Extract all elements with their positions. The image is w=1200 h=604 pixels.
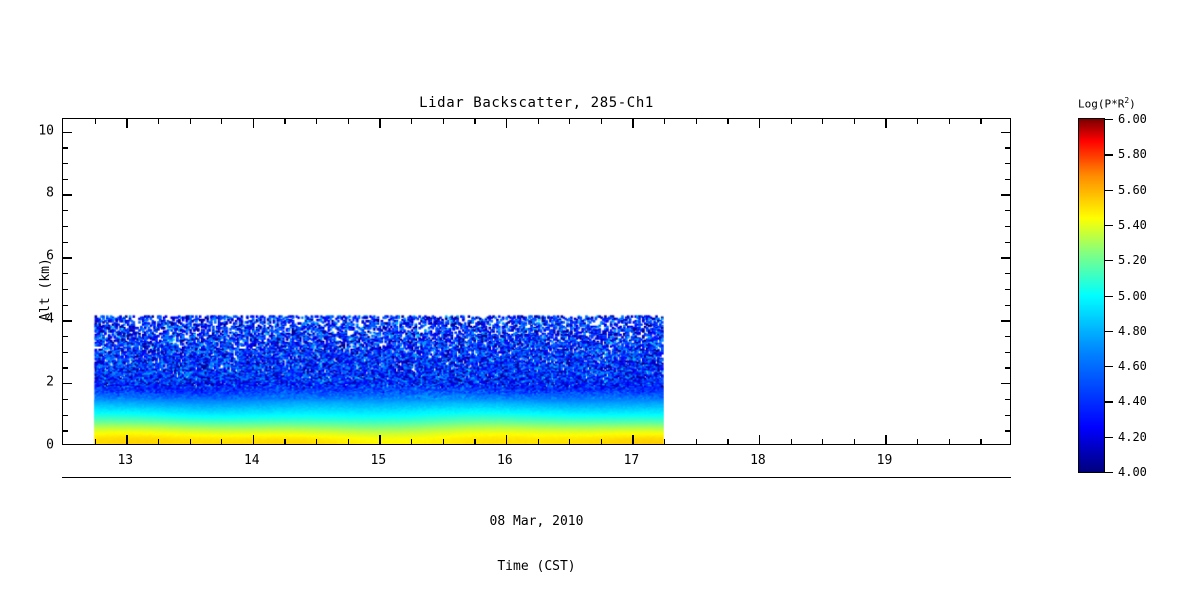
axis-tick [348,119,349,124]
colorbar-tick-label: 4.00 [1118,465,1147,479]
axis-tick [63,273,68,274]
axis-tick [506,435,507,444]
x-tick-label: 15 [371,453,387,468]
axis-tick [63,352,68,353]
colorbar-tick [1105,331,1113,332]
axis-tick [63,305,68,306]
axis-tick [949,119,950,124]
axis-tick [1005,210,1010,211]
axis-tick [474,439,475,444]
colorbar-group: Log(P*R2) 6.005.805.605.405.205.004.804.… [1078,118,1196,478]
axis-tick [1005,163,1010,164]
axis-tick [63,320,72,321]
colorbar-tick [1105,260,1113,261]
axis-tick [1001,257,1010,258]
colorbar-title: Log(P*R2) [1078,96,1136,111]
axis-tick [1005,289,1010,290]
colorbar-tick-label: 5.40 [1118,218,1147,232]
y-tick-label: 2 [20,375,54,390]
axis-tick [63,415,68,416]
axis-tick [1005,352,1010,353]
axis-tick [411,119,412,124]
axis-tick [569,119,570,124]
axis-tick [95,119,96,124]
axis-tick [1005,430,1010,431]
axis-tick [822,119,823,124]
colorbar-tick [1105,401,1113,402]
y-axis-label: Alt (km) [38,258,53,321]
colorbar-tick-label: 5.60 [1118,183,1147,197]
axis-tick [632,435,633,444]
colorbar-tick-label: 5.80 [1118,147,1147,161]
axis-tick [284,119,285,124]
axis-tick [949,439,950,444]
plot-title: Lidar Backscatter, 285-Ch1 [62,95,1011,111]
colorbar-tick-label: 5.20 [1118,253,1147,267]
axis-tick [158,439,159,444]
axis-tick [1005,305,1010,306]
x-tick-label: 18 [750,453,766,468]
y-tick-label: 8 [20,186,54,201]
colorbar-tick [1105,119,1113,120]
axis-tick [474,119,475,124]
axis-tick [980,439,981,444]
axis-tick [1001,383,1010,384]
axis-tick [727,439,728,444]
axis-tick [348,439,349,444]
axis-tick [284,439,285,444]
axis-tick [727,119,728,124]
axis-tick [379,435,380,444]
axis-tick [854,119,855,124]
colorbar-tick-label: 6.00 [1118,112,1147,126]
axis-tick [443,119,444,124]
x-axis-label-block: 08 Mar, 2010 Time (CST) [62,484,1011,604]
x-tick-label: 17 [624,453,640,468]
lidar-backscatter-figure: Lidar Backscatter, 285-Ch1 1314151617181… [0,0,1200,600]
axis-tick [63,289,68,290]
axis-tick [822,439,823,444]
colorbar-tick-label: 4.60 [1118,359,1147,373]
axis-tick [1001,320,1010,321]
axis-tick [63,210,68,211]
axis-tick [885,119,886,128]
axis-tick [316,439,317,444]
axis-tick [1005,226,1010,227]
axis-tick [601,439,602,444]
axis-tick [316,119,317,124]
axis-tick [379,119,380,128]
colorbar-tick [1105,225,1113,226]
axis-tick [221,439,222,444]
colorbar-bar [1078,118,1105,473]
axis-tick [601,119,602,124]
axis-tick [791,439,792,444]
axis-tick [411,439,412,444]
colorbar-title-prefix: Log(P*R [1078,98,1124,111]
axis-tick [443,439,444,444]
axis-tick [63,147,68,148]
axis-tick [885,435,886,444]
axis-tick [63,336,68,337]
x-tick-label: 14 [244,453,260,468]
axis-tick [980,119,981,124]
colorbar-tick [1105,190,1113,191]
axis-tick [1001,194,1010,195]
axis-tick [190,119,191,124]
axis-tick [253,435,254,444]
x-axis-date-label: 08 Mar, 2010 [62,514,1011,529]
colorbar-tick [1105,472,1113,473]
axis-tick [190,439,191,444]
axis-tick [1005,336,1010,337]
y-tick-label: 10 [20,123,54,138]
axis-tick [538,439,539,444]
axis-tick [63,242,68,243]
colorbar-tick-label: 4.40 [1118,394,1147,408]
x-tick-label: 16 [497,453,513,468]
axis-tick [1005,367,1010,368]
axis-tick [759,119,760,128]
axis-tick [63,132,72,133]
heatmap-canvas [63,119,1010,444]
colorbar-tick [1105,154,1113,155]
axis-tick [1001,132,1010,133]
axis-tick [1005,179,1010,180]
axis-tick [63,430,68,431]
axis-tick [158,119,159,124]
axis-tick [63,399,68,400]
axis-tick [759,435,760,444]
axis-tick [854,439,855,444]
x-tick-label: 19 [877,453,893,468]
axis-tick [63,226,68,227]
axis-tick [63,179,68,180]
axis-tick [126,119,127,128]
axis-tick [63,383,72,384]
axis-tick [1005,415,1010,416]
axis-tick [538,119,539,124]
plot-frame [62,118,1011,445]
colorbar-tick-label: 5.00 [1118,289,1147,303]
bottom-rule [62,477,1011,478]
axis-tick [221,119,222,124]
x-axis-time-label: Time (CST) [62,559,1011,574]
axis-tick [1005,147,1010,148]
axis-tick [126,435,127,444]
axis-tick [1005,242,1010,243]
axis-tick [664,119,665,124]
axis-tick [1005,273,1010,274]
axis-tick [1005,399,1010,400]
colorbar-tick-label: 4.20 [1118,430,1147,444]
axis-tick [791,119,792,124]
axis-tick [632,119,633,128]
axis-tick [696,119,697,124]
axis-tick [664,439,665,444]
axis-tick [506,119,507,128]
axis-tick [917,119,918,124]
axis-tick [569,439,570,444]
axis-tick [696,439,697,444]
colorbar-title-suffix: ) [1129,98,1136,111]
colorbar-tick-label: 4.80 [1118,324,1147,338]
axis-tick [95,439,96,444]
axis-tick [63,367,68,368]
colorbar-tick [1105,296,1113,297]
y-tick-label: 0 [20,438,54,453]
axis-tick [63,257,72,258]
axis-tick [917,439,918,444]
axis-tick [63,194,72,195]
colorbar-tick [1105,437,1113,438]
axis-tick [63,163,68,164]
axis-tick [253,119,254,128]
colorbar-tick [1105,366,1113,367]
x-tick-label: 13 [117,453,133,468]
colorbar-gradient [1079,119,1104,472]
